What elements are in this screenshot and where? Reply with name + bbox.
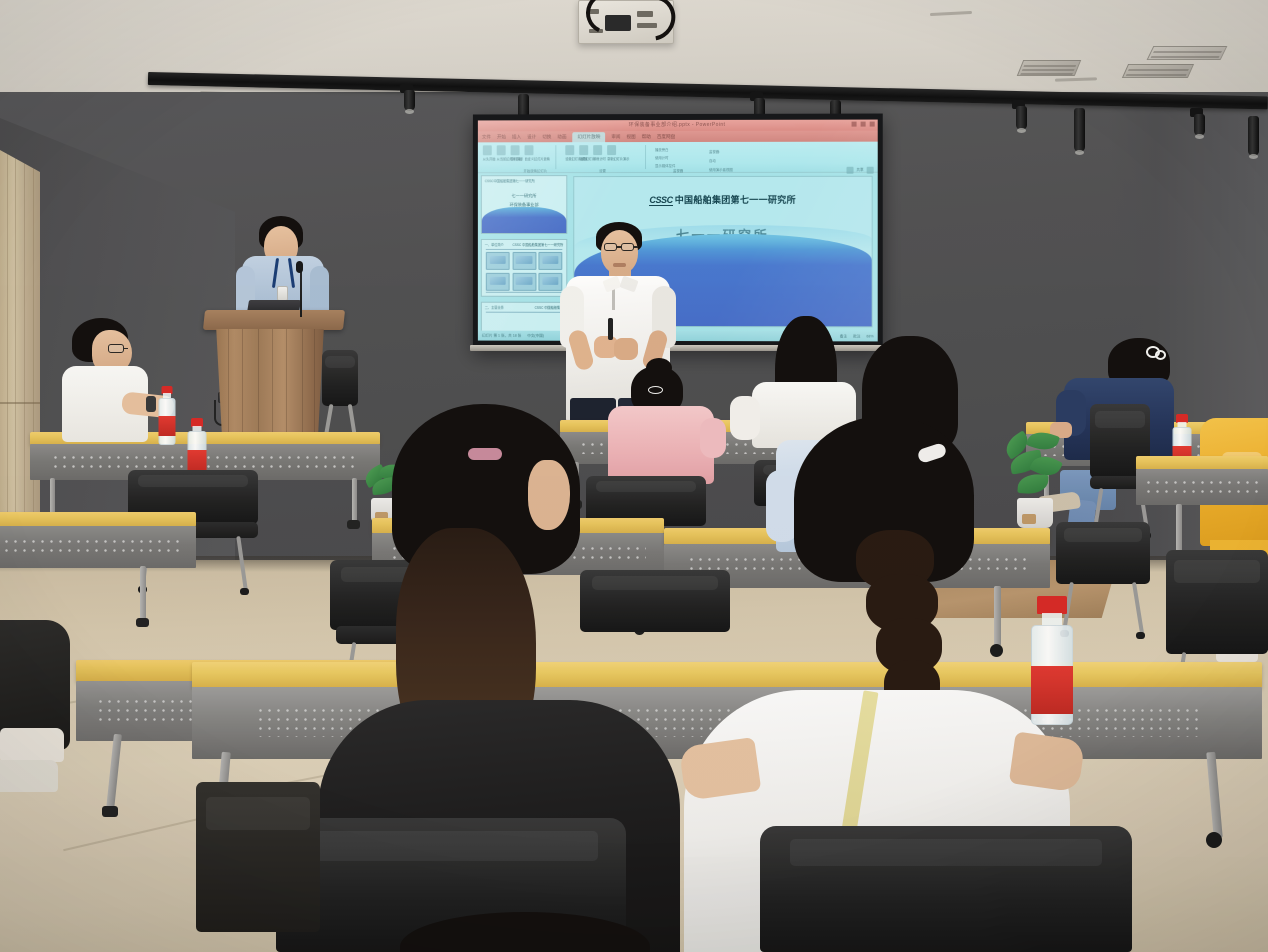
ceiling-vent — [1122, 64, 1194, 78]
wood-wall-panel — [0, 150, 40, 570]
projection-screen[interactable]: 环保装备事业部介绍.pptx - PowerPoint 文件 开始 插入 设计 … — [473, 114, 883, 351]
plant-pot — [1017, 498, 1053, 528]
desk-modesty-panel — [0, 526, 196, 568]
status-comments[interactable]: 批注 — [853, 334, 860, 339]
thumbnail-corner-brand: CSSC 中国船舶集团 — [535, 305, 564, 310]
close-icon — [870, 122, 875, 127]
microphone — [296, 261, 303, 273]
status-zoom[interactable]: 68% — [866, 334, 873, 338]
seminar-room-scene: 环保装备事业部介绍.pptx - PowerPoint 文件 开始 插入 设计 … — [0, 0, 1268, 952]
tab-help[interactable]: 帮助 — [642, 134, 651, 140]
hair-clip — [1155, 350, 1166, 360]
ribbon-button-from-beginning[interactable]: 从头开始 — [483, 145, 492, 161]
window-title: 环保装备事业部介绍.pptx - PowerPoint — [629, 121, 726, 128]
slide-brand-header: CSSC中国船舶集团第七一一研究所 — [574, 193, 871, 206]
hair-tie — [468, 448, 502, 460]
chair[interactable] — [580, 570, 730, 632]
track-light[interactable] — [1074, 108, 1085, 152]
presenter-clicker[interactable] — [608, 318, 613, 340]
tab-transitions[interactable]: 切换 — [542, 134, 551, 140]
attendee-glasses — [108, 344, 124, 353]
chair-back — [760, 826, 1132, 952]
chair-back — [1056, 522, 1150, 584]
tab-insert[interactable]: 插入 — [512, 134, 521, 140]
thumbnail-content-grid — [486, 252, 563, 291]
ribbon-button-record[interactable]: 录制幻灯片演示 — [607, 145, 616, 161]
podium-top — [203, 310, 345, 330]
desk[interactable] — [0, 512, 196, 578]
powerpoint-window[interactable]: 环保装备事业部介绍.pptx - PowerPoint 文件 开始 插入 设计 … — [478, 120, 878, 342]
presenter-mouth — [613, 263, 626, 267]
ribbon-right-actions[interactable]: 共享 — [846, 167, 873, 174]
powerpoint-titlebar: 环保装备事业部介绍.pptx - PowerPoint — [478, 120, 878, 132]
desk-top — [1136, 456, 1268, 470]
water-bottle[interactable] — [158, 386, 176, 446]
thumbnail-band — [482, 207, 566, 233]
desk-top — [192, 662, 1262, 688]
track-light[interactable] — [1016, 106, 1027, 130]
minimize-icon — [852, 122, 857, 127]
ribbon-group-label-setup: 设置 — [599, 168, 606, 173]
comment-icon — [867, 167, 874, 174]
thumbnail-header: CSSC中国船舶集团第七一一研究所 — [485, 178, 535, 183]
track-light[interactable] — [1248, 116, 1259, 156]
attendee-arm-left — [679, 737, 762, 801]
ribbon-button-custom-show[interactable]: 自定义幻灯片放映 — [525, 145, 534, 161]
ribbon-label-monitor: 监视器: — [709, 149, 720, 154]
presenter-glasses-right — [621, 243, 634, 251]
attendee-hair-bun — [646, 358, 672, 378]
slide-thumbnail-panel[interactable]: CSSC中国船舶集团第七一一研究所 七一一研究所 环保装备事业部 一、单位简介 … — [481, 175, 567, 331]
thumbnail-title: 七一一研究所 — [482, 193, 566, 199]
track-light[interactable] — [404, 90, 415, 111]
tab-view[interactable]: 视图 — [626, 134, 635, 140]
ribbon-option-timings[interactable]: 使用计时 — [655, 155, 669, 160]
slide-header-text: 中国船舶集团第七一一研究所 — [675, 195, 796, 205]
ribbon-button-rehearse[interactable]: 排练计时 — [593, 145, 602, 161]
attendee-shoe — [0, 728, 64, 762]
attendee-watch — [146, 396, 156, 412]
status-slide-info: 幻灯片 第 1 张，共 18 张 — [482, 333, 521, 338]
ribbon-button-from-current[interactable]: 从当前幻灯片开始 — [497, 145, 506, 161]
chair-back — [580, 570, 730, 632]
chair-back — [196, 782, 320, 932]
ceiling-vent — [1017, 60, 1081, 76]
attendee-shoe — [0, 760, 58, 792]
cssc-logo: CSSC — [649, 195, 672, 206]
ribbon-group-label-monitors: 监视器 — [673, 168, 683, 173]
chair[interactable] — [196, 782, 320, 932]
ribbon-button-hide-slide[interactable]: 隐藏幻灯片 — [579, 145, 588, 161]
desk[interactable] — [1136, 456, 1268, 516]
desk-modesty-panel — [1136, 469, 1268, 505]
attendee-arm — [700, 418, 726, 458]
attendee-arm-right — [1009, 731, 1086, 792]
share-label: 共享 — [856, 168, 863, 173]
ceiling-vent — [1147, 46, 1228, 60]
ribbon-label-auto[interactable]: 自动 — [709, 158, 716, 163]
ribbon-button-setup-show[interactable]: 设置幻灯片放映 — [565, 145, 574, 161]
attendee-torso — [608, 406, 714, 484]
chair[interactable] — [1056, 522, 1150, 584]
tab-home[interactable]: 开始 — [497, 134, 506, 140]
thumbnail-header: 一、单位简介 — [485, 242, 504, 247]
ribbon-tabs[interactable]: 文件 开始 插入 设计 切换 动画 幻灯片放映 审阅 视图 帮助 百度网盘 — [478, 131, 878, 143]
hair-clip — [648, 386, 663, 394]
ribbon-group-label-start: 开始放映幻灯片 — [524, 168, 548, 173]
maximize-icon — [861, 122, 866, 127]
tab-baidu[interactable]: 百度网盘 — [657, 134, 675, 140]
water-bottle[interactable] — [1030, 596, 1074, 726]
tab-review[interactable]: 审阅 — [611, 134, 620, 140]
tab-animations[interactable]: 动画 — [557, 134, 566, 140]
tab-slideshow[interactable]: 幻灯片放映 — [572, 132, 605, 142]
ribbon-option-narration[interactable]: 播放旁白 — [655, 147, 669, 152]
tab-file[interactable]: 文件 — [482, 134, 491, 140]
status-language[interactable]: 中文(中国) — [527, 333, 544, 338]
ribbon-button-present-online[interactable]: 联机演示 — [511, 145, 520, 161]
window-controls[interactable] — [852, 122, 875, 127]
attendee-arm — [730, 396, 760, 440]
potted-plant — [1000, 432, 1070, 528]
slide-thumbnail[interactable]: 一、单位简介 CSSC 中国船舶集团第七一一研究所 — [481, 239, 567, 297]
tab-design[interactable]: 设计 — [527, 134, 536, 140]
chair[interactable] — [322, 350, 358, 406]
chair[interactable] — [1166, 550, 1268, 654]
chair-back — [1166, 550, 1268, 654]
presenter-glasses-bridge — [616, 246, 622, 248]
desk-top — [0, 512, 196, 527]
ribbon-label-presenter-view[interactable]: 使用演示者视图 — [709, 167, 733, 172]
track-light[interactable] — [1194, 114, 1205, 136]
thumbnail-header: 二、主营业务 — [485, 305, 504, 310]
slide-thumbnail[interactable]: CSSC中国船舶集团第七一一研究所 七一一研究所 环保装备事业部 — [481, 175, 567, 234]
status-notes[interactable]: 备注 — [840, 334, 847, 339]
chair-back — [322, 350, 358, 406]
presenter-hand-right — [614, 338, 638, 360]
share-icon — [846, 167, 853, 174]
moderator-badge — [277, 286, 288, 301]
thumbnail-corner-brand: CSSC 中国船舶集团第七一一研究所 — [512, 242, 563, 247]
chair[interactable] — [760, 826, 1132, 952]
ribbon[interactable]: 从头开始 从当前幻灯片开始 联机演示 自定义幻灯片放映 设置幻灯片放映 隐藏幻灯… — [478, 142, 878, 174]
attendee-ear-side — [528, 460, 570, 530]
